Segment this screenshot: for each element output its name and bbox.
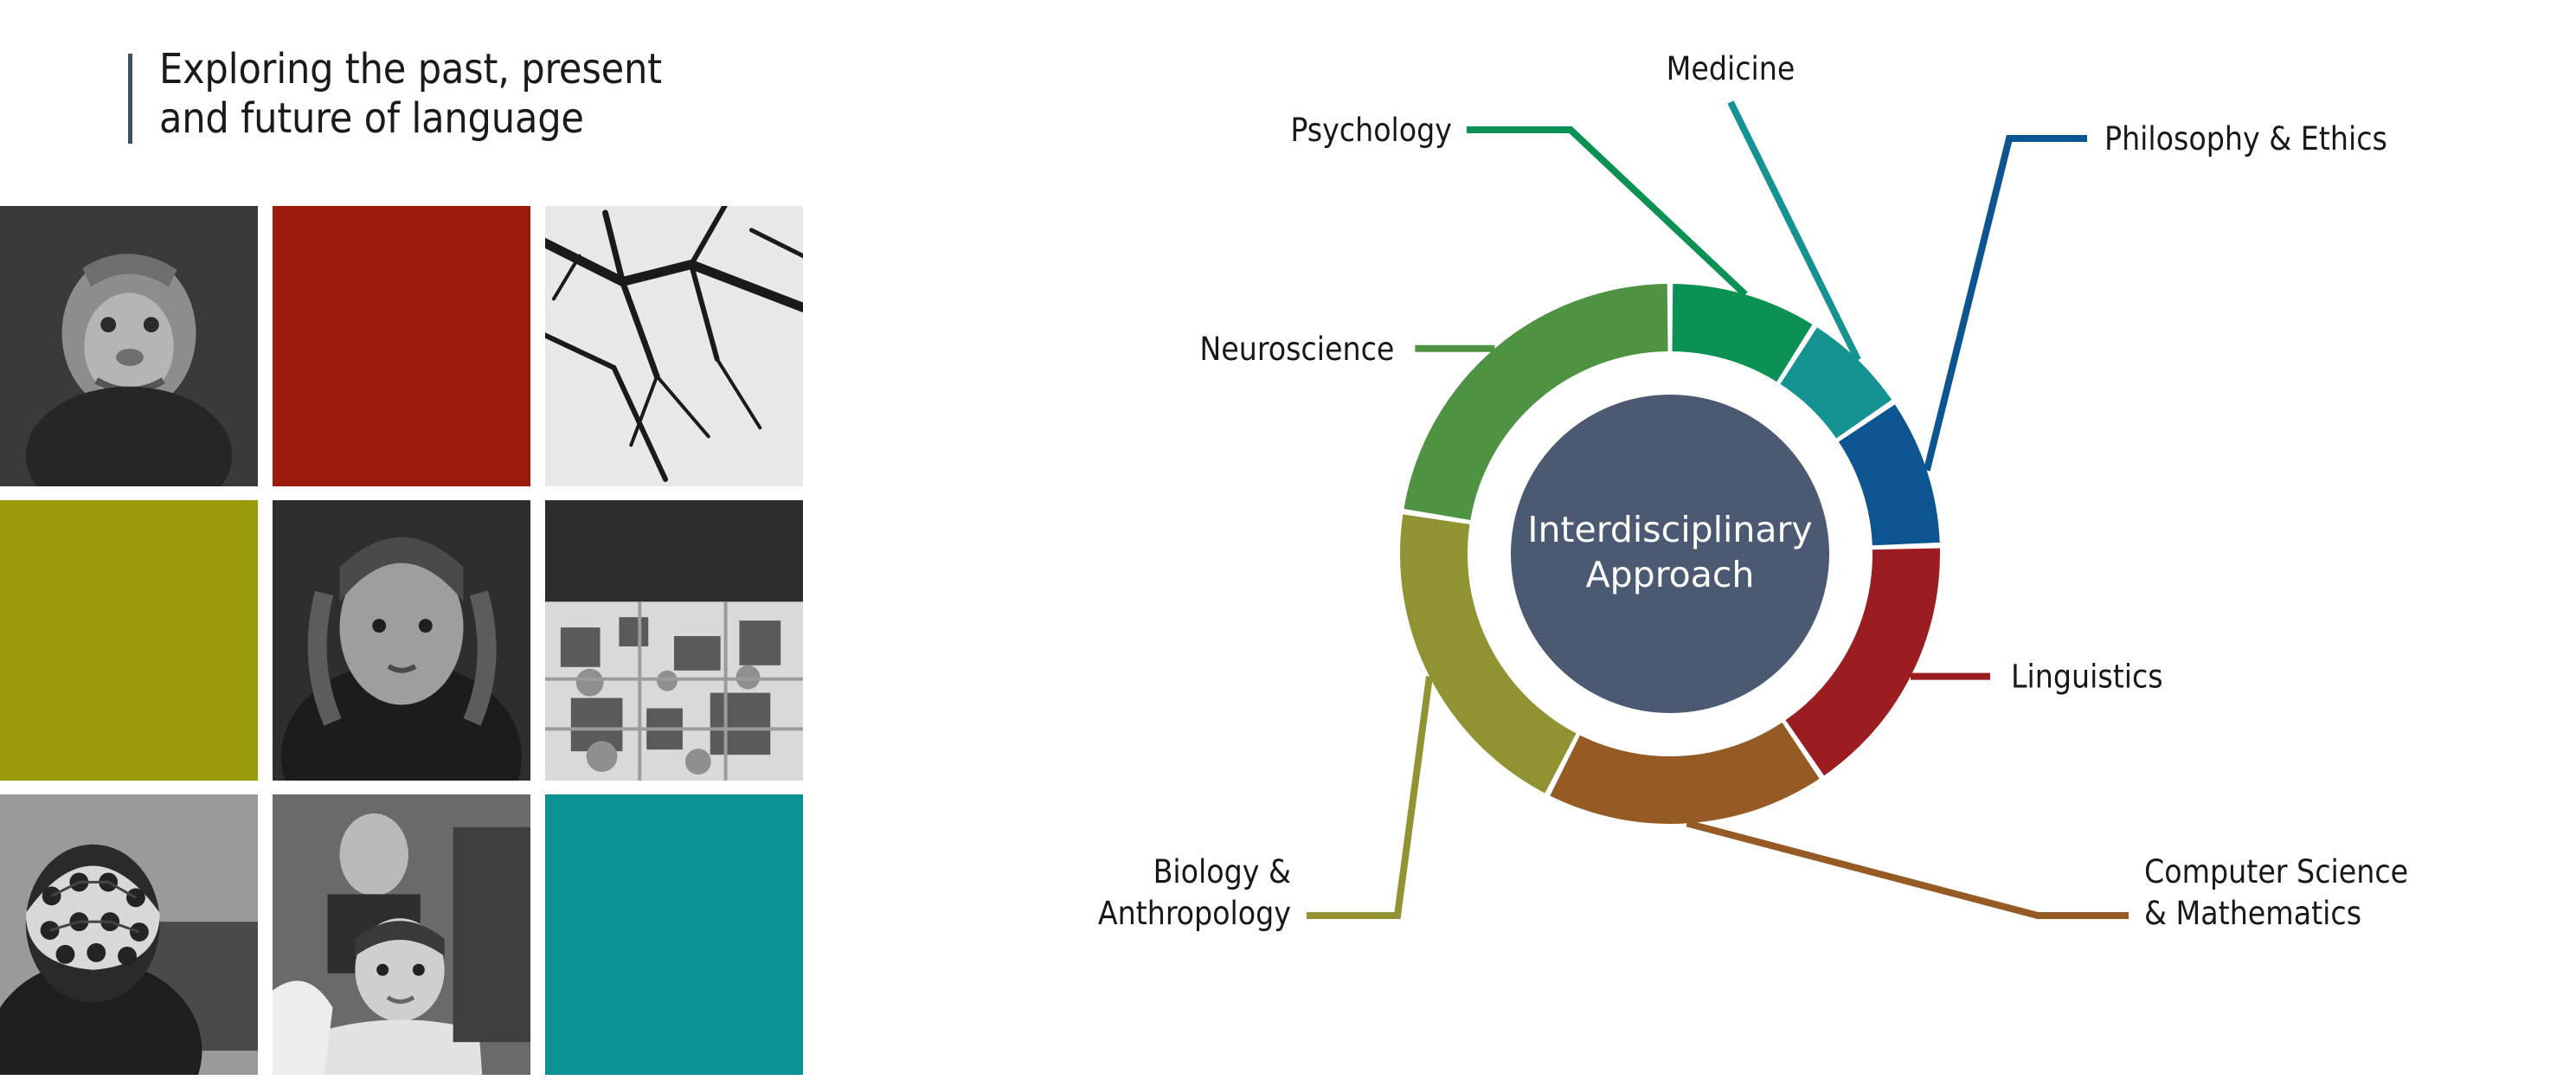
callout-label-2: Philosophy & Ethics xyxy=(2104,120,2387,157)
elderly-woman-photo xyxy=(273,500,530,781)
donut-center-label-line2: Approach xyxy=(1586,554,1755,595)
callout-2: Philosophy & Ethics xyxy=(1927,120,2387,471)
callout-label-6: Neuroscience xyxy=(1199,331,1394,368)
callout-label-0: Psychology xyxy=(1290,112,1452,149)
children-photo xyxy=(273,794,530,1075)
callout-6: Neuroscience xyxy=(1199,331,1494,368)
slide-heading: Exploring the past, present and future o… xyxy=(128,45,786,143)
heading-text: Exploring the past, present and future o… xyxy=(159,45,786,143)
chimpanzee-photo xyxy=(0,206,258,486)
callout-leader-line-4 xyxy=(1687,823,2129,916)
red-color-block xyxy=(273,206,530,486)
callout-3: Linguistics xyxy=(1911,659,2163,696)
eeg-cap-photo xyxy=(0,794,258,1075)
callout-label-5-line2: Anthropology xyxy=(1098,895,1291,932)
bare-branches-photo xyxy=(545,206,803,486)
callout-leader-line-5 xyxy=(1307,677,1429,916)
olive-color-block xyxy=(0,500,258,781)
callout-label-1: Medicine xyxy=(1667,50,1795,87)
donut-chart-svg: InterdisciplinaryApproachPsychologyMedic… xyxy=(926,17,2535,1038)
callout-label-4-line2: & Mathematics xyxy=(2144,895,2361,932)
heading-accent-bar xyxy=(128,54,132,144)
interdisciplinary-donut-chart: InterdisciplinaryApproachPsychologyMedic… xyxy=(926,17,2535,1038)
callout-leader-line-2 xyxy=(1927,138,2087,471)
callout-4: Computer Science& Mathematics xyxy=(1687,823,2409,932)
callout-label-4-line1: Computer Science xyxy=(2144,853,2408,890)
callout-leader-line-0 xyxy=(1467,130,1745,294)
donut-slice-0[interactable] xyxy=(1672,284,1812,382)
donut-center-label-line1: Interdisciplinary xyxy=(1527,509,1812,550)
callout-0: Psychology xyxy=(1290,112,1745,294)
callout-label-3: Linguistics xyxy=(2011,659,2163,696)
teal-color-block xyxy=(545,794,803,1075)
callout-5: Biology &Anthropology xyxy=(1098,677,1429,932)
circuit-board-photo xyxy=(545,500,803,781)
callout-label-5-line1: Biology & xyxy=(1153,853,1291,890)
donut-slice-4[interactable] xyxy=(1550,723,1819,824)
image-grid xyxy=(0,206,803,1080)
